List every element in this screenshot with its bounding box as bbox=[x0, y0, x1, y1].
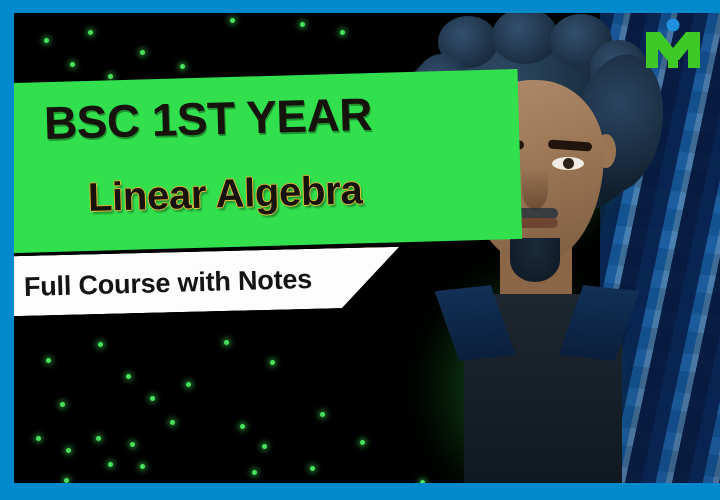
eye-right bbox=[552, 157, 584, 170]
particle-dot bbox=[88, 30, 93, 35]
frame-border-left bbox=[0, 0, 14, 500]
logo-m-icon bbox=[644, 18, 702, 70]
particle-dot bbox=[230, 18, 235, 23]
pupil-right bbox=[563, 158, 574, 169]
particle-dot bbox=[180, 64, 185, 69]
particle-dot bbox=[360, 440, 365, 445]
particle-dot bbox=[126, 374, 131, 379]
particle-dot bbox=[140, 464, 145, 469]
frame-border-top bbox=[0, 0, 720, 13]
particle-dot bbox=[96, 436, 101, 441]
particle-dot bbox=[36, 436, 41, 441]
particle-dot bbox=[224, 340, 229, 345]
particle-dot bbox=[262, 444, 267, 449]
nose bbox=[522, 168, 548, 210]
magnet-brains-logo[interactable] bbox=[644, 18, 702, 70]
particle-dot bbox=[310, 466, 315, 471]
particle-dot bbox=[130, 442, 135, 447]
particle-dot bbox=[240, 424, 245, 429]
particle-dot bbox=[70, 62, 75, 67]
particle-dot bbox=[340, 30, 345, 35]
particle-dot bbox=[270, 360, 275, 365]
frame-border-bottom bbox=[0, 483, 720, 500]
particle-dot bbox=[66, 448, 71, 453]
particle-dot bbox=[300, 22, 305, 27]
hair-curl bbox=[590, 40, 648, 102]
particle-dot bbox=[150, 396, 155, 401]
hair-curl bbox=[492, 8, 558, 64]
particle-dot bbox=[46, 358, 51, 363]
particle-dot bbox=[320, 412, 325, 417]
particle-dot bbox=[44, 38, 49, 43]
particle-dot bbox=[60, 402, 65, 407]
beard bbox=[510, 238, 560, 282]
particle-dot bbox=[186, 382, 191, 387]
particle-dot bbox=[108, 462, 113, 467]
particle-dot bbox=[98, 342, 103, 347]
particle-dot bbox=[140, 50, 145, 55]
particle-dot bbox=[170, 420, 175, 425]
particle-dot bbox=[108, 74, 113, 79]
video-thumbnail: BSC 1ST YEAR Linear Algebra Full Course … bbox=[0, 0, 720, 500]
particle-dot bbox=[252, 470, 257, 475]
